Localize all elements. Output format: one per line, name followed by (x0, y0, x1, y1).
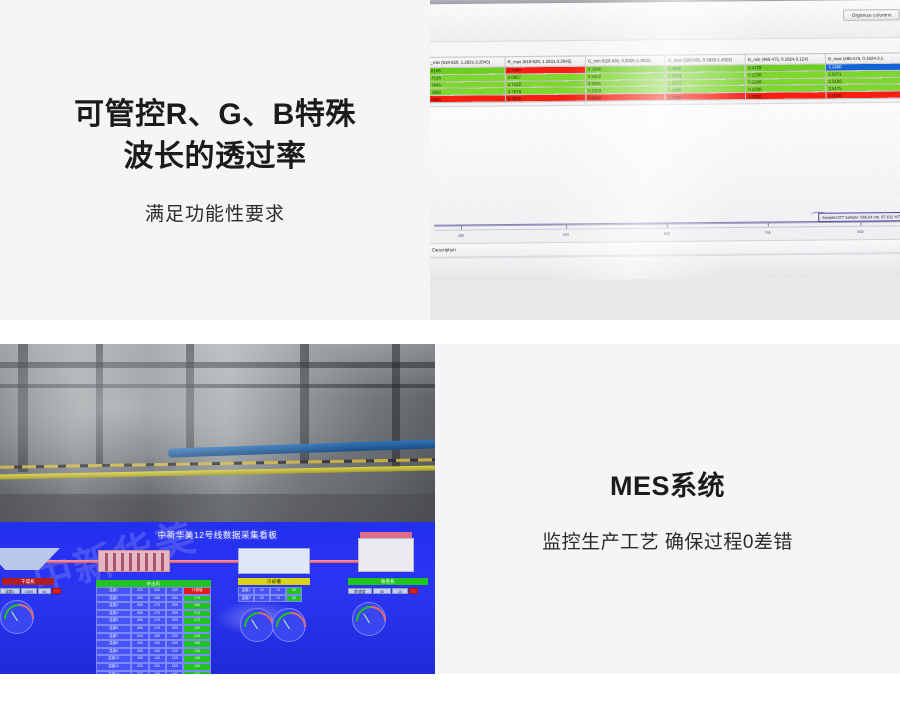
axis-tick-label: 800 (857, 230, 863, 234)
param-label[interactable]: 温度10 (96, 655, 131, 663)
column-header-b-max[interactable]: B_max (465-475, 0.1624-3.1 (826, 53, 900, 64)
param-hi[interactable]: 270 (149, 610, 166, 618)
param-lo[interactable]: 185 (166, 587, 184, 595)
param-actual[interactable]: 269 (183, 625, 211, 633)
table-row[interactable]: 温度1 40 70 55 (238, 587, 302, 595)
winder-gauge (352, 602, 386, 636)
table-row[interactable]: 温度4 265 270 255 272 (96, 610, 211, 618)
dryer-alarm-indicator[interactable] (52, 588, 61, 594)
cooling-label[interactable]: 温度1 (238, 587, 254, 595)
param-label[interactable]: 温度6 (96, 625, 131, 633)
table-row[interactable]: 温度1 215 200 185 计算值 (96, 587, 211, 595)
cell-g-min[interactable]: 0.0000 (585, 93, 665, 101)
table-row[interactable]: 温度6 265 270 255 269 (96, 625, 211, 633)
axis-tick (768, 223, 769, 227)
param-actual[interactable]: 135 (183, 655, 211, 663)
cell-r-min[interactable]: 0.0000 (430, 95, 505, 103)
winder-cell-label[interactable]: 转速度 (348, 588, 372, 594)
param-hi[interactable]: 140 (149, 655, 166, 663)
param-actual[interactable]: 158 (183, 640, 211, 648)
param-label[interactable]: 温度3 (96, 602, 131, 610)
chart-tooltip: Sample2377 Sample :666.64 nm, 97.632 %T (818, 212, 900, 222)
param-label[interactable]: 温度4 (96, 610, 131, 618)
copy-block-rgb: 可管控R、G、B特殊 波长的透过率 满足功能性要求 (0, 0, 430, 320)
param-lo[interactable]: 185 (166, 663, 184, 671)
param-lo[interactable]: 255 (166, 602, 184, 610)
subheadline: 满足功能性要求 (145, 199, 285, 226)
param-label[interactable]: 温度8 (96, 640, 131, 648)
param-lo[interactable]: 165 (166, 640, 184, 648)
param-set[interactable]: 265 (131, 617, 148, 625)
dryer-value-row[interactable]: 温度1 1000 50 (0, 588, 61, 594)
param-set[interactable]: 225 (131, 663, 148, 671)
param-actual[interactable]: 192 (183, 663, 211, 671)
param-hi[interactable]: 160 (149, 640, 166, 648)
cooling-hi[interactable]: 70 (270, 587, 286, 595)
cooling-gauge-2 (272, 608, 306, 642)
table-row[interactable]: 温度9 155 140 125 134 (96, 648, 211, 656)
axis-tick (566, 224, 567, 228)
axis-tick (860, 222, 861, 226)
param-label[interactable]: 温度11 (96, 663, 131, 671)
param-actual[interactable]: 265 (183, 602, 211, 610)
table-row[interactable]: 温度7 245 250 235 245 (96, 633, 211, 641)
param-actual[interactable]: 计算值 (183, 587, 211, 595)
column-header-g-max[interactable]: G_max (520-535, 0.3826-1.4922) (665, 54, 745, 65)
measurement-data-grid[interactable]: R_min (618-628, 1.2631-3.2045) R_max (61… (430, 52, 900, 103)
param-set[interactable]: 155 (131, 655, 148, 663)
param-set[interactable]: 265 (131, 625, 148, 633)
dryer-cell-value-1[interactable]: 1000 (21, 588, 37, 594)
mes-title: MES系统 (610, 464, 725, 503)
winder-alarm-indicator[interactable] (409, 588, 418, 594)
param-hi[interactable]: 200 (149, 663, 166, 671)
param-actual[interactable]: 279 (183, 595, 211, 603)
param-set[interactable]: 155 (131, 648, 148, 656)
table-row[interactable]: 温度3 265 270 255 265 (96, 602, 211, 610)
cooling-actual[interactable]: 55 (286, 587, 302, 595)
param-actual[interactable]: 245 (183, 633, 211, 641)
param-hi[interactable]: 270 (149, 617, 166, 625)
cell-b-min[interactable]: 0.0000 (746, 92, 826, 100)
param-label[interactable]: 温度5 (96, 617, 131, 625)
param-hi[interactable]: 265 (149, 595, 166, 603)
param-set[interactable]: 155 (131, 640, 148, 648)
copy-block-mes: MES系统 监控生产工艺 确保过程0差错 (435, 344, 900, 674)
table-row[interactable]: 温度2 260 265 250 279 (96, 595, 211, 603)
winder-value-row[interactable]: 转速度 50 10 (348, 588, 418, 594)
param-lo[interactable]: 125 (166, 655, 184, 663)
dryer-station-label: 干燥机 (2, 578, 54, 585)
axis-tick-label: 500 (563, 233, 569, 237)
param-label[interactable]: 温度2 (96, 595, 131, 603)
param-label[interactable]: 温度7 (96, 633, 131, 641)
param-hi[interactable]: 140 (149, 648, 166, 656)
param-set[interactable]: 260 (131, 595, 148, 603)
page-title: 可管控R、G、B特殊 波长的透过率 (74, 94, 356, 177)
spectrometer-toolbar: Organize columns (430, 1, 900, 43)
cell-r-max[interactable]: 0.0000 (505, 94, 585, 102)
extruder-machine (98, 550, 170, 572)
param-set[interactable]: 265 (131, 602, 148, 610)
organize-columns-button[interactable]: Organize columns (843, 9, 899, 21)
cooling-label[interactable]: 温度2 (238, 595, 254, 603)
table-row[interactable]: 温度5 265 270 255 272 (96, 617, 211, 625)
dryer-gauge (0, 600, 34, 634)
param-lo[interactable]: 255 (166, 625, 184, 633)
param-actual[interactable]: 272 (183, 617, 211, 625)
param-actual[interactable]: 134 (183, 648, 211, 656)
table-row[interactable]: 温度11 225 200 185 192 (96, 663, 211, 671)
cell-g-max[interactable]: 0.0000 (666, 93, 746, 101)
param-hi[interactable]: 200 (149, 587, 166, 595)
param-set[interactable]: 215 (131, 587, 148, 595)
param-set[interactable]: 245 (131, 633, 148, 641)
param-label[interactable]: 温度1 (96, 587, 131, 595)
axis-tick-label: 400 (458, 234, 464, 238)
param-lo[interactable]: 235 (166, 633, 184, 641)
table-body: 2.6166 2.9468 0.7346 1.4056 0.4729 3.148… (430, 63, 900, 103)
winder-station-label: 收卷机 (348, 578, 428, 585)
winder-cell-value-2[interactable]: 10 (392, 588, 408, 594)
dryer-cell-label[interactable]: 温度1 (0, 588, 20, 594)
factory-mes-screenshot: 中新华美 中新华美12号线数据采集看板 干燥机 温度1 1000 50 (0, 344, 435, 674)
extruder-parameter-table[interactable]: 挤出机 温度1 215 200 185 计算值 温度2 260 265 250 (96, 580, 211, 674)
cooling-parameter-table[interactable]: 温度1 40 70 55 温度2 40 70 36 (238, 587, 302, 602)
mes-subheadline: 监控生产工艺 确保过程0差错 (542, 527, 793, 554)
column-header-b-min[interactable]: B_min (465-475, 0.1624-3.124) (745, 54, 825, 65)
axis-tick (667, 223, 668, 227)
param-hi[interactable]: 270 (149, 625, 166, 633)
cooling-actual[interactable]: 36 (286, 595, 302, 603)
param-label[interactable]: 温度9 (96, 648, 131, 656)
cooling-station-label: 冷却槽 (238, 578, 310, 585)
headline-line-2: 波长的透过率 (74, 136, 356, 177)
window-footer (430, 253, 900, 281)
param-lo[interactable]: 250 (166, 595, 184, 603)
product-feature-page: 可管控R、G、B特殊 波长的透过率 满足功能性要求 Organize colum… (0, 0, 900, 702)
param-set[interactable]: 265 (131, 610, 148, 618)
dryer-cell-value-2[interactable]: 50 (38, 588, 51, 594)
headline-line-1: 可管控R、G、B特殊 (74, 94, 356, 135)
spectrum-chart[interactable]: 400 500 600 700 800 Sample2377 Sample :6… (430, 102, 900, 243)
table-row[interactable]: 温度2 40 70 36 (238, 595, 302, 603)
bottom-whitespace (0, 674, 900, 702)
table-row[interactable]: 温度10 155 140 125 135 (96, 655, 211, 663)
process-line (308, 560, 362, 563)
cooling-gauge-1 (240, 608, 274, 642)
table-row[interactable]: 温度8 155 160 165 158 (96, 640, 211, 648)
spectrometer-software-screenshot: Organize columns R_min (618-628, 1.2631-… (430, 0, 900, 320)
param-lo[interactable]: 255 (166, 617, 184, 625)
axis-tick-label: 600 (664, 232, 670, 236)
mes-dashboard[interactable]: 中新华美 中新华美12号线数据采集看板 干燥机 温度1 1000 50 (0, 522, 435, 674)
param-lo[interactable]: 255 (166, 610, 184, 618)
factory-plant-photo (0, 344, 435, 522)
param-actual[interactable]: 272 (183, 610, 211, 618)
section-rgb-transmittance: 可管控R、G、B特殊 波长的透过率 满足功能性要求 Organize colum… (0, 0, 900, 320)
description-label: Description (432, 247, 456, 252)
axis-tick (461, 225, 462, 229)
cooling-tank (238, 548, 310, 574)
cell-b-max[interactable]: 0.0000 (826, 91, 900, 99)
lighting-haze (0, 344, 435, 522)
cooling-hi[interactable]: 70 (270, 595, 286, 603)
winder-cell-value-1[interactable]: 50 (373, 588, 391, 594)
cooling-set[interactable]: 40 (254, 595, 270, 603)
spectrometer-window: Organize columns R_min (618-628, 1.2631-… (430, 0, 900, 281)
axis-tick-label: 700 (765, 231, 771, 235)
process-line (168, 560, 240, 563)
column-header-r-max[interactable]: R_max (618-628, 1.2631-3.2045) (505, 56, 585, 67)
cooling-set[interactable]: 40 (254, 587, 270, 595)
param-lo[interactable]: 125 (166, 648, 184, 656)
winder-machine (358, 538, 414, 572)
extruder-table-caption: 挤出机 (96, 580, 211, 587)
param-hi[interactable]: 270 (149, 602, 166, 610)
param-hi[interactable]: 250 (149, 633, 166, 641)
